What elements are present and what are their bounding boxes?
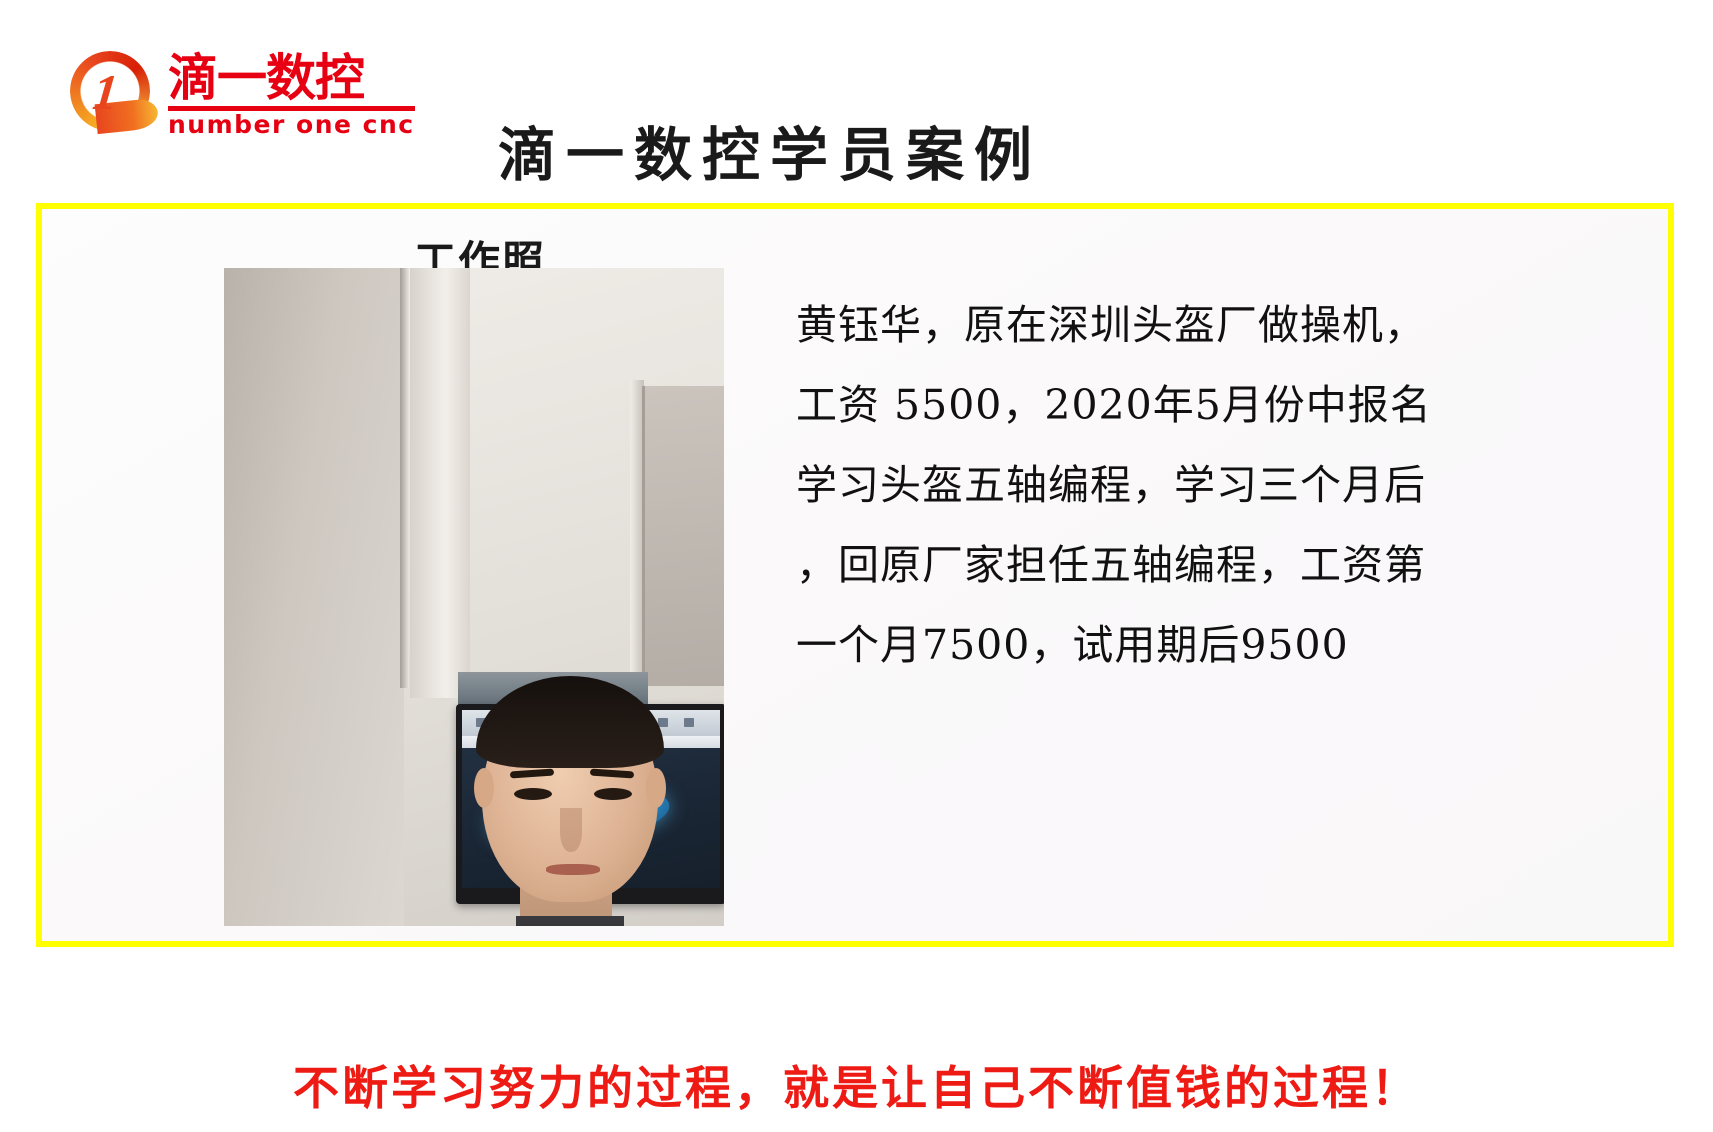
photo-person-eye-left xyxy=(514,788,552,800)
case-description-line: 学习头盔五轴编程，学习三个月后 xyxy=(796,445,1526,525)
photo-door xyxy=(642,386,724,686)
photo-cad-tool-icon xyxy=(684,718,694,727)
logo-english-name: number one cnc xyxy=(168,112,415,137)
case-description-line: 一个月7500，试用期后9500 xyxy=(796,605,1526,685)
case-description-line: 工资 5500，2020年5月份中报名 xyxy=(796,365,1526,445)
logo-chinese-name: 滴一数控 xyxy=(168,53,415,104)
slide-canvas: 1 滴一数控 number one cnc 滴一数控学员案例 工作照 xyxy=(0,0,1713,1132)
logo-numeral: 1 xyxy=(90,67,120,117)
brand-logo: 1 滴一数控 number one cnc xyxy=(66,42,376,148)
photo-person-ear-left xyxy=(474,768,494,808)
case-description-line: ，回原厂家担任五轴编程，工资第 xyxy=(796,525,1526,605)
photo-person-eye-right xyxy=(594,788,632,800)
photo-person-nose xyxy=(560,808,582,852)
photo-column xyxy=(410,268,470,698)
photo-wall-left xyxy=(224,268,404,926)
logo-wordmark: 滴一数控 number one cnc xyxy=(168,53,415,137)
photo-person-mouth xyxy=(546,864,600,875)
case-description-line: 黄钰华，原在深圳头盔厂做操机， xyxy=(796,285,1526,365)
student-work-photo xyxy=(224,268,724,926)
photo-cad-tool-icon xyxy=(658,718,668,727)
photo-wall-edge xyxy=(400,268,409,688)
photo-person-ear-right xyxy=(646,768,666,808)
photo-person-collar xyxy=(516,916,624,926)
logo-swirl-icon: 1 xyxy=(66,49,158,141)
page-title: 滴一数控学员案例 xyxy=(470,108,1070,192)
case-description: 黄钰华，原在深圳头盔厂做操机， 工资 5500，2020年5月份中报名 学习头盔… xyxy=(796,285,1526,685)
footer-slogan: 不断学习努力的过程，就是让自己不断值钱的过程！ xyxy=(0,1052,1713,1118)
